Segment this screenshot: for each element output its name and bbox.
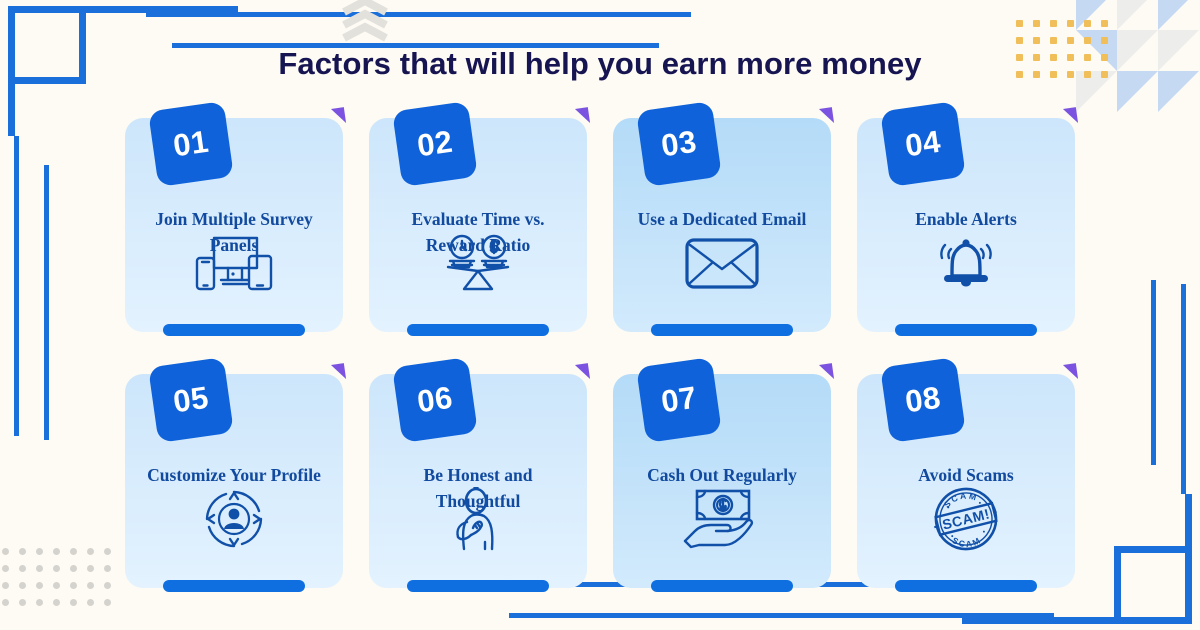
decorative-dot <box>1016 37 1023 44</box>
profile-refresh-icon <box>125 488 343 550</box>
badge-fold <box>1063 363 1078 381</box>
factor-card[interactable]: 06Be Honest and Thoughtful <box>369 374 587 588</box>
card-accent-bar <box>895 324 1037 336</box>
decorative-dot <box>36 565 43 572</box>
decorative-dot <box>70 582 77 589</box>
card-title: Cash Out Regularly <box>625 462 819 488</box>
decorative-dot <box>70 599 77 606</box>
bell-icon <box>857 232 1075 294</box>
card-number-badge: 02 <box>392 101 478 187</box>
decorative-dot <box>104 599 111 606</box>
infographic-canvas: Factors that will help you earn more mon… <box>0 0 1200 630</box>
badge-fold <box>819 363 834 381</box>
decorative-dot <box>70 565 77 572</box>
decorative-dot <box>87 548 94 555</box>
bottom-right-vline-2 <box>1151 280 1156 465</box>
devices-icon <box>125 232 343 294</box>
bottom-right-vline-1 <box>1181 284 1186 494</box>
decorative-dot <box>87 582 94 589</box>
factor-card[interactable]: 04Enable Alerts <box>857 118 1075 332</box>
decorative-dot <box>104 582 111 589</box>
card-title: Use a Dedicated Email <box>625 206 819 232</box>
factor-card[interactable]: 07Cash Out Regularly <box>613 374 831 588</box>
decorative-dot <box>53 582 60 589</box>
decorative-dot <box>19 565 26 572</box>
top-left-line-1 <box>146 12 691 17</box>
card-number-badge: 04 <box>880 101 966 187</box>
decorative-dot <box>19 548 26 555</box>
decorative-dot <box>1033 37 1040 44</box>
card-title: Customize Your Profile <box>137 462 331 488</box>
decorative-dot <box>1050 20 1057 27</box>
decorative-dot <box>53 565 60 572</box>
badge-fold <box>331 107 346 125</box>
factor-card[interactable]: 02Evaluate Time vs. Reward Ratio <box>369 118 587 332</box>
decorative-dot <box>1101 20 1108 27</box>
decorative-dot <box>1016 20 1023 27</box>
card-accent-bar <box>895 580 1037 592</box>
card-accent-bar <box>163 324 305 336</box>
card-accent-bar <box>407 324 549 336</box>
card-number-badge: 01 <box>148 101 234 187</box>
decorative-dot <box>1084 37 1091 44</box>
decorative-dot <box>104 548 111 555</box>
decorative-dot <box>53 548 60 555</box>
decorative-dot <box>70 548 77 555</box>
card-number-badge: 03 <box>636 101 722 187</box>
decorative-dot <box>36 548 43 555</box>
decorative-dot <box>36 582 43 589</box>
factor-card[interactable]: 05Customize Your Profile <box>125 374 343 588</box>
badge-fold <box>819 107 834 125</box>
decorative-dot <box>2 548 9 555</box>
factor-card[interactable]: 03Use a Dedicated Email <box>613 118 831 332</box>
decorative-dot <box>2 599 9 606</box>
decorative-dot <box>1050 37 1057 44</box>
person-hand-on-heart-icon <box>369 488 587 550</box>
svg-text:· SCAM! ·: · SCAM! · <box>931 503 1000 535</box>
factor-card[interactable]: 08Avoid Scams SCAM SCAM · SCAM! · <box>857 374 1075 588</box>
decorative-dot <box>19 599 26 606</box>
card-title: Enable Alerts <box>869 206 1063 232</box>
decorative-dot <box>87 599 94 606</box>
decorative-dot <box>2 565 9 572</box>
decorative-dot <box>1033 20 1040 27</box>
decorative-dot <box>2 582 9 589</box>
gray-dot-grid <box>2 548 111 606</box>
card-accent-bar <box>651 580 793 592</box>
decorative-dot <box>87 565 94 572</box>
svg-text:SCAM: SCAM <box>949 531 984 551</box>
top-left-vline-2 <box>44 165 49 440</box>
card-accent-bar <box>651 324 793 336</box>
decorative-dot <box>1067 20 1074 27</box>
decorative-dot <box>1084 20 1091 27</box>
decorative-dot <box>1101 37 1108 44</box>
card-number-badge: 05 <box>148 357 234 443</box>
badge-fold <box>575 107 590 125</box>
factor-card[interactable]: 01Join Multiple Survey Panels <box>125 118 343 332</box>
balance-scale-icon <box>369 232 587 294</box>
decorative-dot <box>104 565 111 572</box>
card-number-badge: 06 <box>392 357 478 443</box>
decorative-dot <box>1067 37 1074 44</box>
page-title: Factors that will help you earn more mon… <box>0 46 1200 82</box>
chevron-up-icon <box>340 0 390 42</box>
decorative-dot <box>53 599 60 606</box>
card-number-badge: 07 <box>636 357 722 443</box>
badge-fold <box>575 363 590 381</box>
card-accent-bar <box>407 580 549 592</box>
badge-fold <box>1063 107 1078 125</box>
scam-stamp-icon: SCAM SCAM · SCAM! · <box>857 488 1075 550</box>
cards-grid: 01Join Multiple Survey Panels 02Evaluate… <box>125 118 1075 588</box>
bottom-right-line-1 <box>509 613 1054 618</box>
top-left-vline-1 <box>14 136 19 436</box>
badge-fold <box>331 363 346 381</box>
bottom-right-square-outline <box>1114 546 1192 624</box>
decorative-dot <box>36 599 43 606</box>
hand-holding-cash-icon <box>613 488 831 550</box>
card-number-badge: 08 <box>880 357 966 443</box>
decorative-dot <box>19 582 26 589</box>
envelope-icon <box>613 232 831 294</box>
card-accent-bar <box>163 580 305 592</box>
